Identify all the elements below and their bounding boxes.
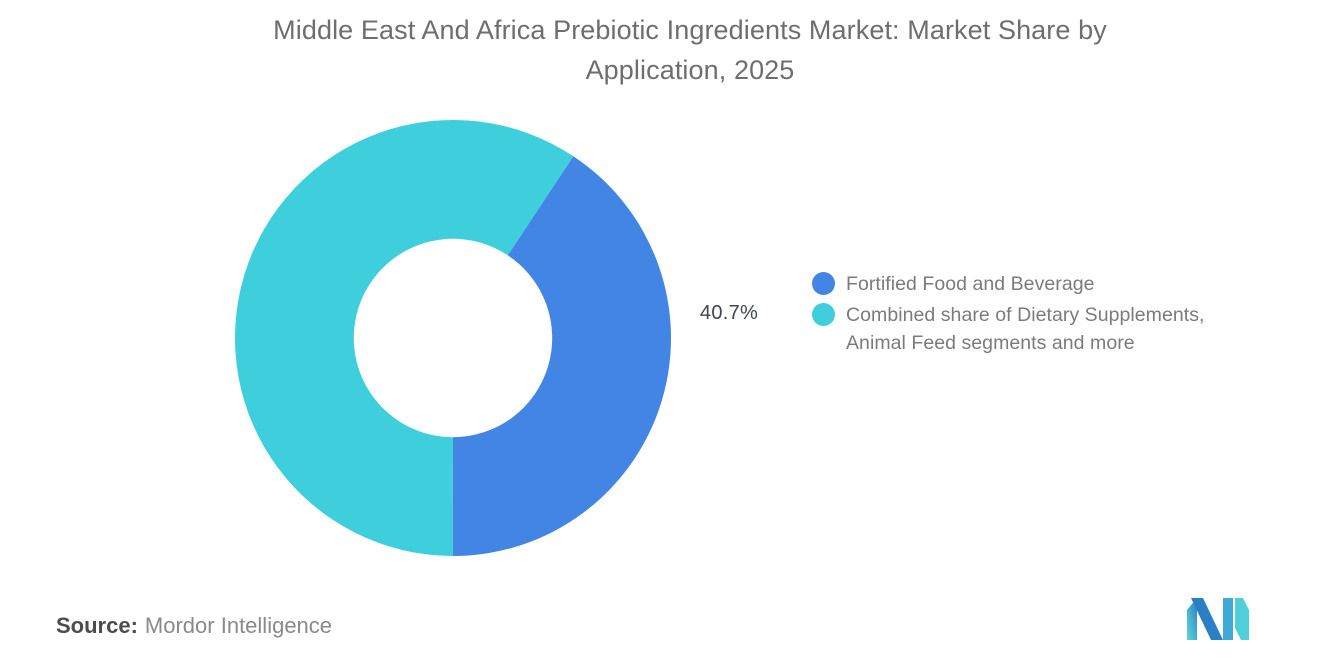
legend-color-swatch-icon bbox=[812, 272, 835, 295]
legend-item-label: Fortified Food and Beverage bbox=[846, 270, 1095, 298]
donut-slice-value-label: 40.7% bbox=[669, 302, 789, 325]
source-value: Mordor Intelligence bbox=[145, 613, 332, 638]
legend-item-label: Combined share of Dietary Supplements, A… bbox=[846, 301, 1266, 357]
chart-legend: Fortified Food and Beverage Combined sha… bbox=[812, 270, 1282, 360]
source-attribution: Source:Mordor Intelligence bbox=[56, 610, 332, 642]
mordor-intelligence-logo-icon bbox=[1185, 598, 1251, 640]
logo-mark-svg bbox=[1185, 598, 1251, 640]
legend-item-combined-share[interactable]: Combined share of Dietary Supplements, A… bbox=[812, 301, 1282, 357]
donut-slice-group bbox=[235, 120, 671, 556]
page-title-line-2: Application, 2025 bbox=[175, 50, 1205, 90]
page-title-line-1: Middle East And Africa Prebiotic Ingredi… bbox=[175, 10, 1205, 50]
source-label: Source: bbox=[56, 613, 138, 638]
donut-chart-svg bbox=[235, 120, 671, 556]
legend-color-swatch-icon bbox=[812, 303, 835, 326]
page-title: Middle East And Africa Prebiotic Ingredi… bbox=[175, 10, 1205, 90]
donut-chart: 40.7% bbox=[235, 120, 671, 556]
legend-item-fortified-food-and-beverage[interactable]: Fortified Food and Beverage bbox=[812, 270, 1282, 298]
